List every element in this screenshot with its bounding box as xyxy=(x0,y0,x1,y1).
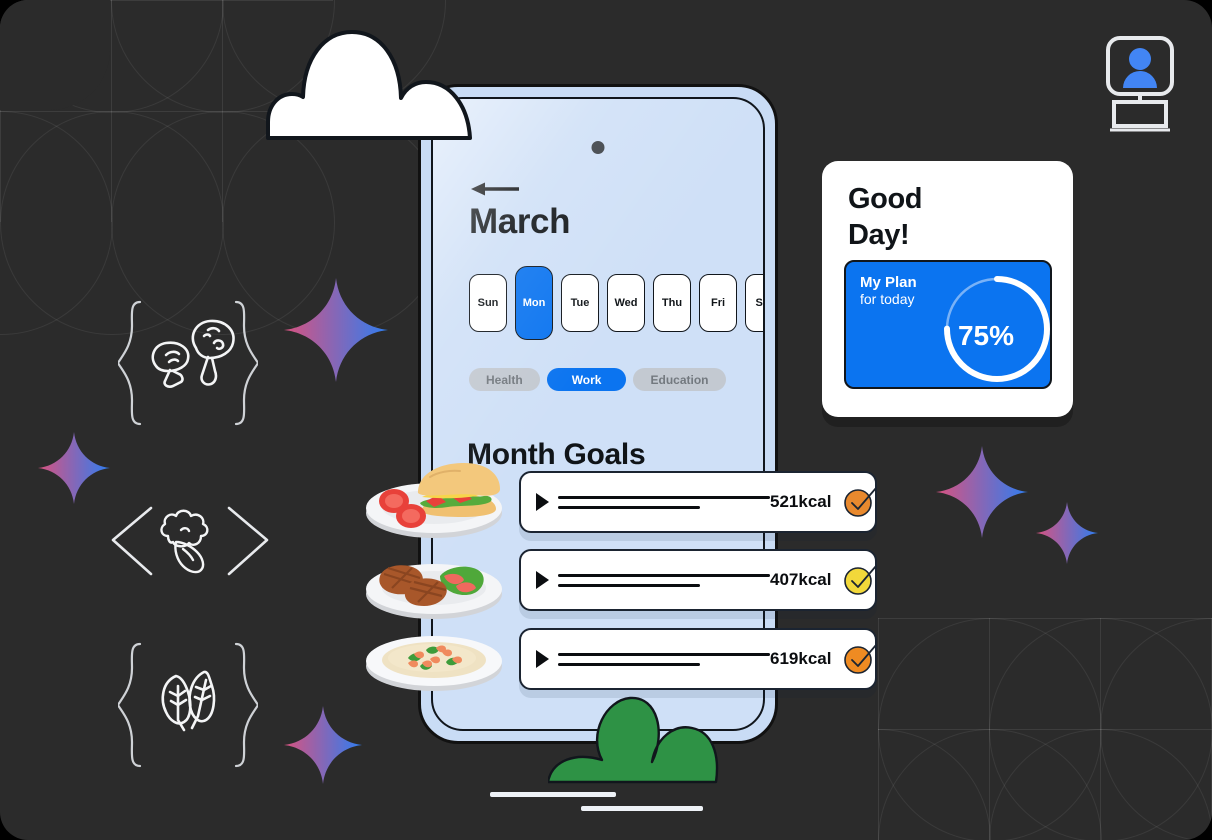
mushrooms-icon xyxy=(153,321,234,387)
day-label: Mon xyxy=(523,297,546,309)
play-icon[interactable] xyxy=(536,493,549,511)
month-title: March xyxy=(469,202,570,242)
day-label: Thu xyxy=(662,297,682,309)
day-label: Fri xyxy=(711,297,725,309)
good-day-card: Good Day! My Plan for today 75% xyxy=(822,161,1073,417)
grid-lines xyxy=(878,618,1212,840)
grid-circle xyxy=(1100,618,1212,840)
day-cell-sat[interactable]: Sat xyxy=(745,274,765,332)
goal-card[interactable]: 407kcal xyxy=(519,549,877,611)
grid-circle xyxy=(0,111,113,335)
sparkle-icon xyxy=(284,278,388,382)
goal-card[interactable]: 619kcal xyxy=(519,628,877,690)
user-monitor-icon[interactable] xyxy=(1104,36,1176,132)
decor-group-spinach xyxy=(118,642,258,768)
progress-percent: 75% xyxy=(936,320,1036,352)
decor-group-mushrooms xyxy=(118,300,258,426)
plate-sandwich-with-tomatoes xyxy=(364,455,504,541)
background-grid-bottom-right xyxy=(878,618,1212,840)
day-label: Wed xyxy=(614,297,637,309)
goal-text-placeholder xyxy=(558,496,770,509)
day-label: Sat xyxy=(755,297,765,309)
my-plan-subtitle: for today xyxy=(860,291,917,307)
cloud-shape xyxy=(262,26,494,140)
goal-text-placeholder xyxy=(558,574,770,587)
grid-circle xyxy=(989,729,1212,840)
goal-kcal-value: 407kcal xyxy=(770,570,831,590)
play-icon[interactable] xyxy=(536,571,549,589)
green-bush-shape xyxy=(548,690,748,786)
check-circle-icon[interactable] xyxy=(843,642,877,676)
category-chip-row[interactable]: Health Work Education xyxy=(469,368,726,391)
good-day-title-line2: Day! xyxy=(848,217,922,253)
sparkle-icon xyxy=(936,446,1028,538)
chip-education[interactable]: Education xyxy=(633,368,725,391)
poster-canvas: March Sun Mon Tue Wed Thu Fri Sat Health… xyxy=(0,0,1212,840)
grid-circle xyxy=(878,729,991,840)
plate-steaks-with-salad xyxy=(364,550,504,620)
plate-shrimp-pasta xyxy=(364,626,504,692)
goal-kcal-value: 521kcal xyxy=(770,492,831,512)
grid-circle xyxy=(989,618,1212,840)
day-cell-wed[interactable]: Wed xyxy=(607,274,645,332)
chip-health[interactable]: Health xyxy=(469,368,540,391)
day-cell-fri[interactable]: Fri xyxy=(699,274,737,332)
sparkle-icon xyxy=(284,706,362,784)
base-line xyxy=(581,806,703,811)
back-arrow-icon[interactable] xyxy=(471,181,519,197)
check-circle-icon[interactable] xyxy=(843,485,877,519)
my-plan-panel[interactable]: My Plan for today 75% xyxy=(844,260,1052,389)
goal-kcal-value: 619kcal xyxy=(770,649,831,669)
check-circle-icon[interactable] xyxy=(843,563,877,597)
day-label: Sun xyxy=(478,297,499,309)
grid-circle xyxy=(0,0,224,113)
spinach-leaves-icon xyxy=(163,672,214,730)
chip-work[interactable]: Work xyxy=(547,368,627,391)
good-day-title-line1: Good xyxy=(848,181,922,217)
broccoli-icon xyxy=(161,511,207,572)
day-selector[interactable]: Sun Mon Tue Wed Thu Fri Sat xyxy=(469,274,765,340)
corner-mask xyxy=(0,0,110,110)
grid-circle xyxy=(878,618,1102,840)
day-label: Tue xyxy=(571,297,590,309)
my-plan-label: My Plan for today xyxy=(860,274,917,307)
decor-group-broccoli xyxy=(105,490,275,590)
base-line xyxy=(490,792,616,797)
my-plan-title: My Plan xyxy=(860,274,917,291)
grid-circle xyxy=(878,729,1102,840)
camera-dot-icon xyxy=(592,141,605,154)
day-cell-tue[interactable]: Tue xyxy=(561,274,599,332)
day-cell-mon[interactable]: Mon xyxy=(515,266,553,340)
day-cell-thu[interactable]: Thu xyxy=(653,274,691,332)
sparkle-icon xyxy=(38,432,110,504)
day-cell-sun[interactable]: Sun xyxy=(469,274,507,332)
sparkle-icon xyxy=(1036,502,1098,564)
goal-card[interactable]: 521kcal xyxy=(519,471,877,533)
goal-text-placeholder xyxy=(558,653,770,666)
play-icon[interactable] xyxy=(536,650,549,668)
good-day-title: Good Day! xyxy=(848,181,922,254)
